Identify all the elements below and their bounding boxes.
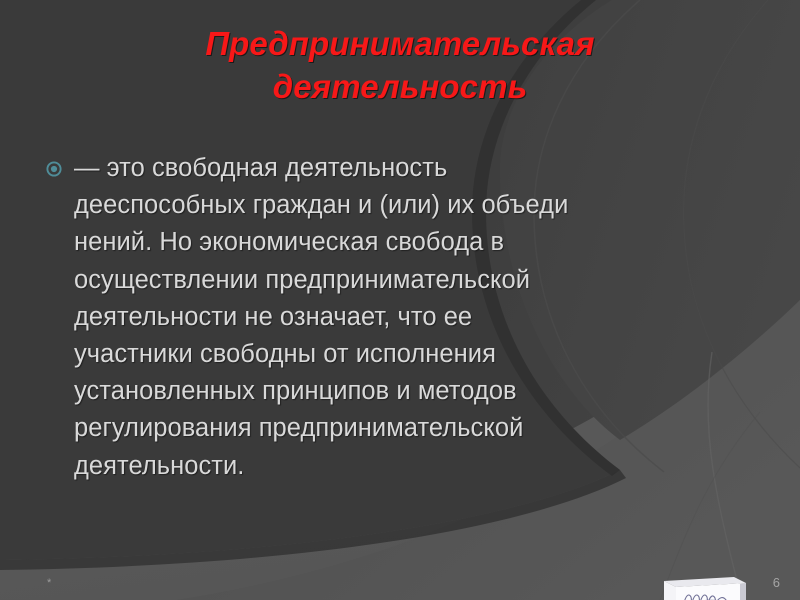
body-line: деятельности не означает, что ее <box>74 299 758 336</box>
body-line: регулирования предпринимательской <box>74 410 758 447</box>
body-line: участники свободны от исполнения <box>74 336 758 373</box>
body-line: нений. Но экономическая свобода в <box>74 224 758 261</box>
presentation-slide: Предпринимательская деятельность — это с… <box>0 0 800 600</box>
body-line: осуществлении предпринимательской <box>74 262 758 299</box>
ring-bullet-icon <box>46 161 62 177</box>
slide-title: Предпринимательская деятельность <box>60 22 740 108</box>
footer-date-placeholder: * <box>47 578 51 589</box>
slide-title-line-1: Предпринимательская <box>60 22 740 65</box>
slide-body-bullet-item: — это свободная деятельность дееспособны… <box>46 150 758 485</box>
slide-title-line-2: деятельность <box>60 65 740 108</box>
body-line: установленных принципов и методов <box>74 373 758 410</box>
slide-body-text: — это свободная деятельность дееспособны… <box>74 150 758 485</box>
white-box-signature-logo-icon <box>656 573 752 600</box>
slide-page-number: 6 <box>773 576 780 590</box>
body-line: — это свободная деятельность <box>74 150 758 187</box>
body-line: дееспособных граждан и (или) их объеди <box>74 187 758 224</box>
body-line: деятельности. <box>74 448 758 485</box>
